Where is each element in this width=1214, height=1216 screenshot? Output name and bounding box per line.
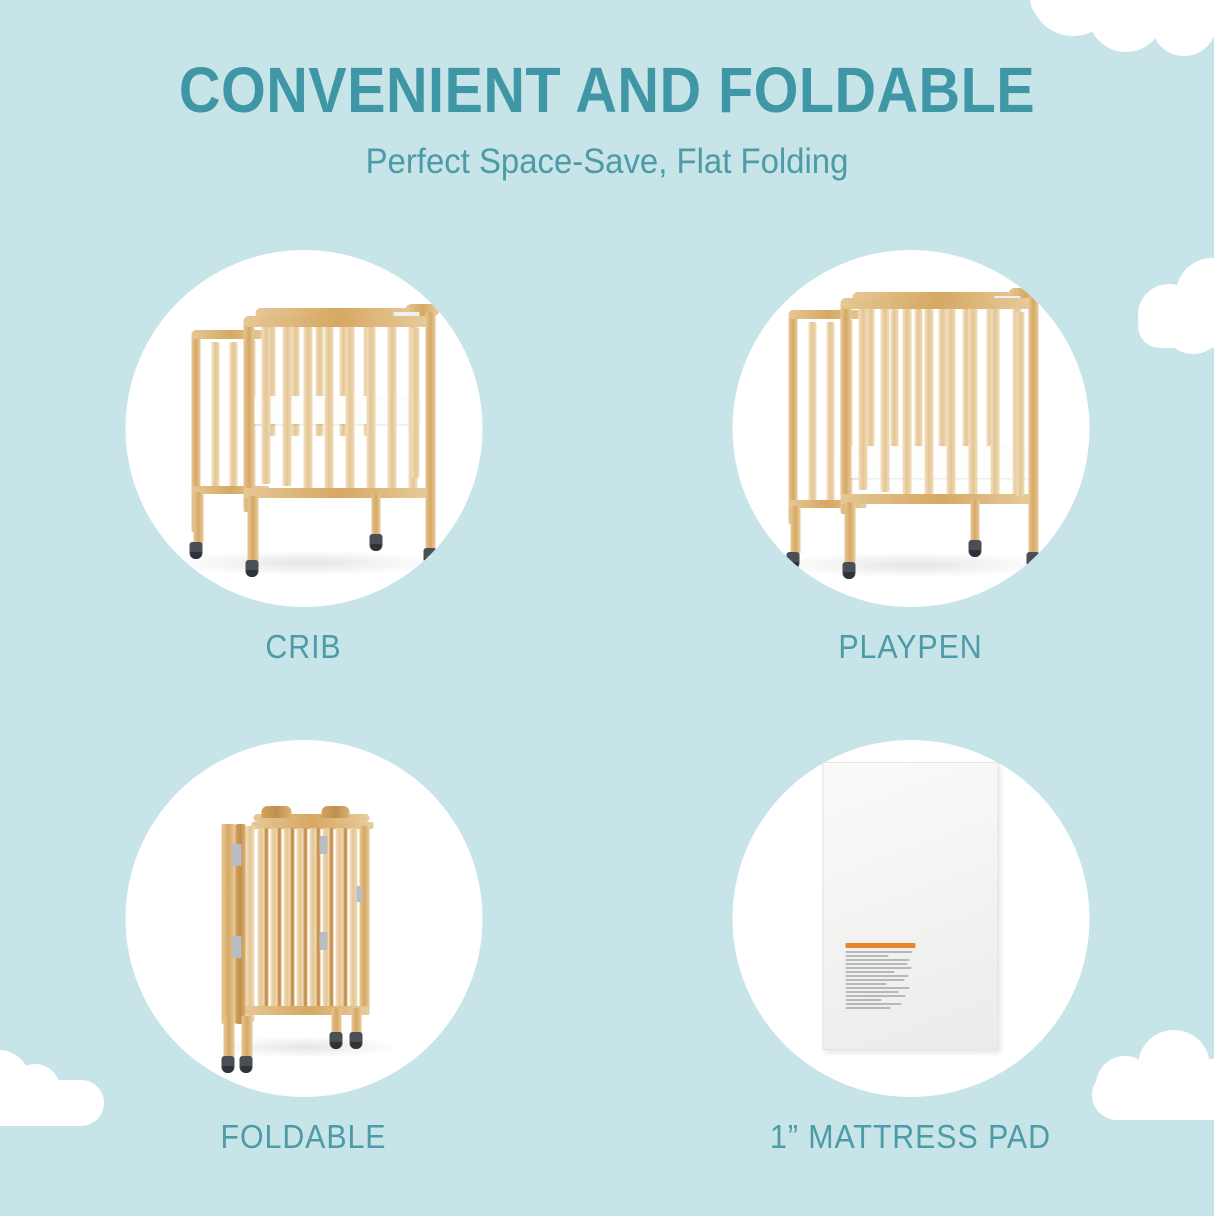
header: CONVENIENT AND FOLDABLE Perfect Space-Sa… (0, 0, 1214, 179)
caption-foldable: FOLDABLE (24, 1118, 582, 1156)
product-photo-mattress-pad (732, 740, 1089, 1097)
feature-cell-crib[interactable]: CRIB (0, 236, 607, 726)
warning-label (846, 943, 916, 1011)
feature-cell-playpen[interactable]: PLAYPEN (607, 236, 1214, 726)
crib-playpen-illustration (732, 250, 1089, 607)
feature-row-bottom: FOLDABLE (0, 726, 1214, 1216)
product-photo-crib (125, 250, 482, 607)
caption-crib: CRIB (24, 628, 582, 666)
product-photo-playpen (732, 250, 1089, 607)
page-subtitle: Perfect Space-Save, Flat Folding (36, 144, 1177, 179)
mattress-pad-illustration (823, 762, 999, 1050)
warning-label-bar (846, 943, 916, 948)
crib-folded-illustration (125, 740, 482, 1097)
caption-mattress-pad: 1” MATTRESS PAD (631, 1118, 1189, 1156)
product-photo-foldable (125, 740, 482, 1097)
feature-row-top: CRIB (0, 236, 1214, 726)
page-title: CONVENIENT AND FOLDABLE (61, 58, 1154, 122)
caption-playpen: PLAYPEN (631, 628, 1189, 666)
feature-cell-mattress-pad[interactable]: 1” MATTRESS PAD (607, 726, 1214, 1216)
crib-open-illustration (125, 250, 482, 607)
feature-cell-foldable[interactable]: FOLDABLE (0, 726, 607, 1216)
feature-grid: CRIB (0, 236, 1214, 1216)
